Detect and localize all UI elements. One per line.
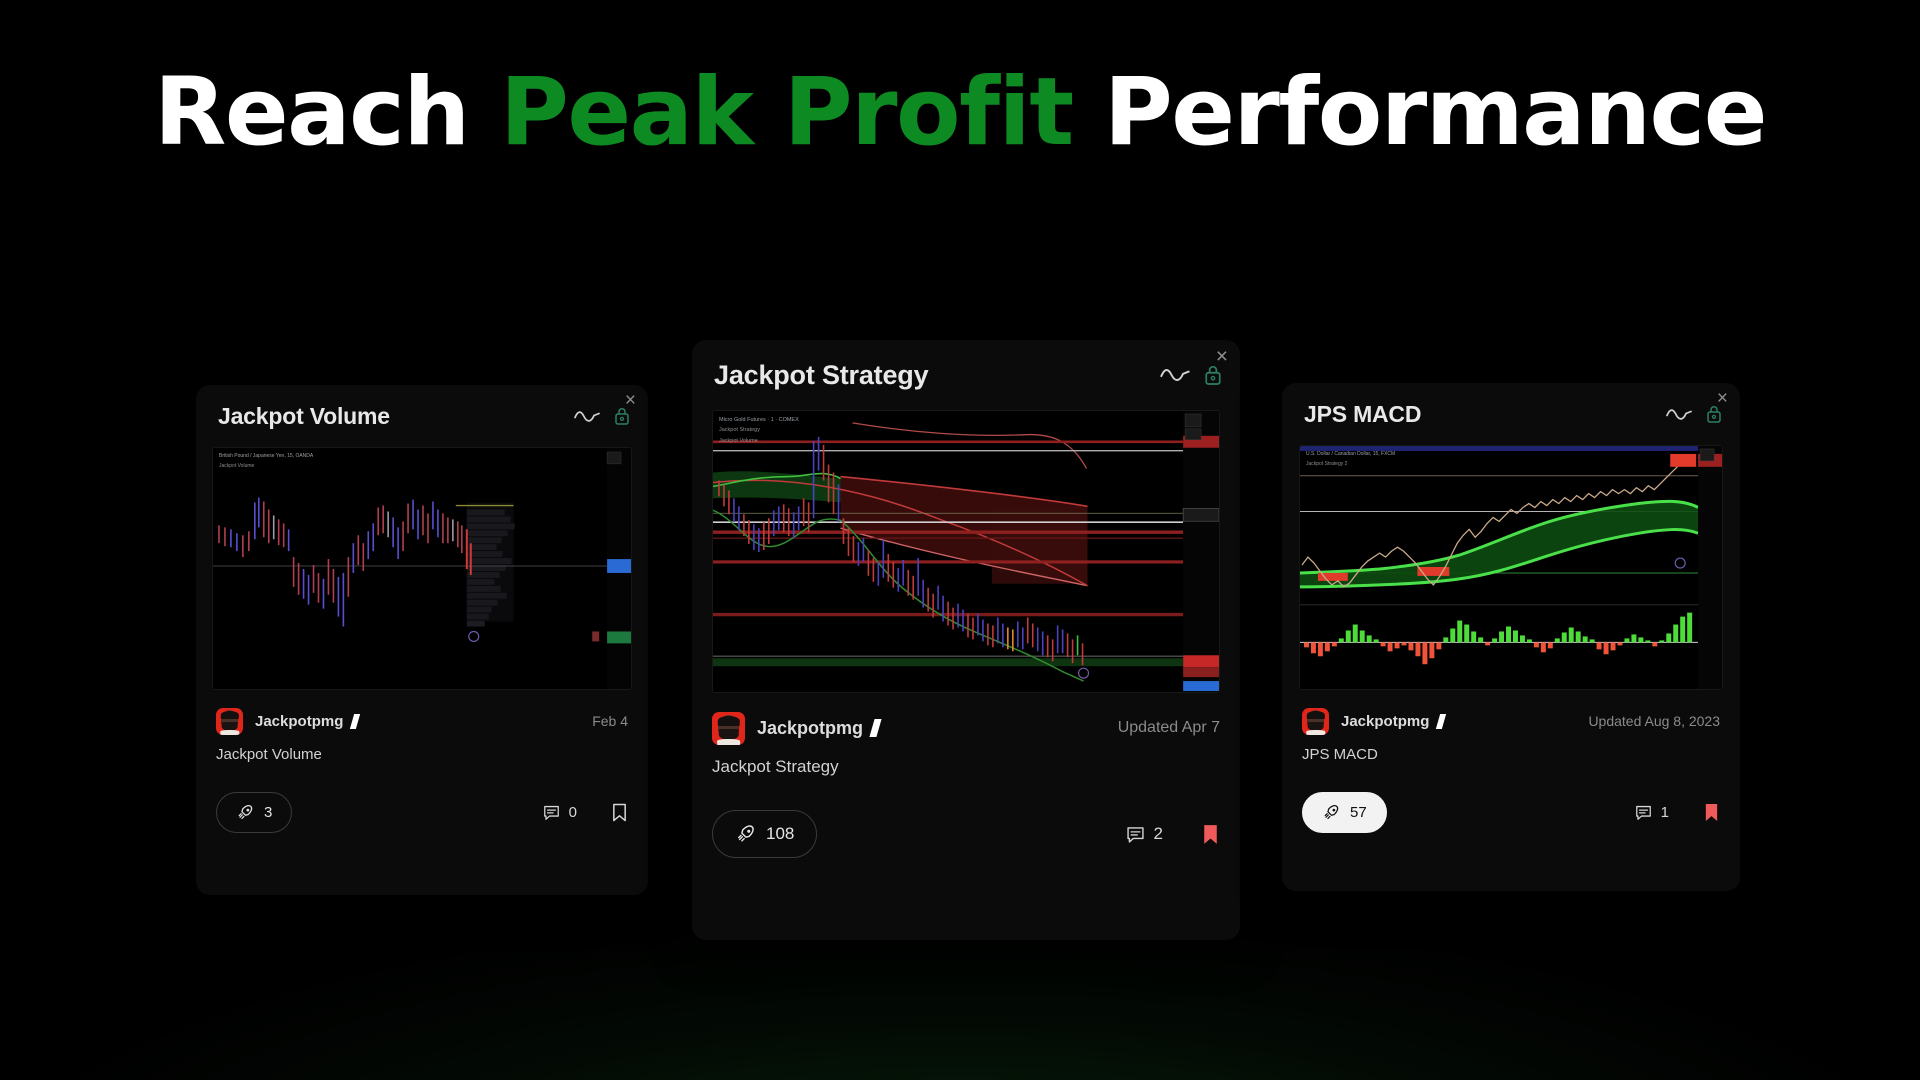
wave-icon[interactable] bbox=[1666, 407, 1692, 421]
verified-badge-icon bbox=[350, 714, 360, 729]
comment-button[interactable]: 2 bbox=[1125, 824, 1163, 845]
chart-svg bbox=[1300, 446, 1722, 689]
rocket-icon bbox=[735, 823, 757, 845]
chart-svg bbox=[213, 448, 631, 689]
card-title: Jackpot Strategy bbox=[714, 360, 928, 391]
page-title: Reach Peak Profit Performance bbox=[0, 58, 1920, 167]
boost-count: 108 bbox=[766, 824, 794, 844]
comment-icon bbox=[542, 803, 561, 822]
headline-part-1: Reach bbox=[154, 58, 500, 167]
chart-thumbnail[interactable]: British Pound / Japanese Yen, 15, OANDA … bbox=[212, 447, 632, 690]
card-meta-row: Jackpotpmg Feb 4 bbox=[196, 690, 648, 752]
comment-button[interactable]: 1 bbox=[1634, 803, 1669, 822]
idea-card-jps-macd[interactable]: JPS MACD × bbox=[1282, 383, 1740, 891]
idea-card-jackpot-strategy[interactable]: Jackpot Strategy × bbox=[692, 340, 1240, 940]
bookmark-icon bbox=[1703, 802, 1720, 823]
card-title: JPS MACD bbox=[1304, 401, 1421, 428]
card-title: Jackpot Volume bbox=[218, 403, 390, 430]
page-root: Reach Peak Profit Performance Jackpot Vo… bbox=[0, 0, 1920, 1080]
card-date: Updated Aug 8, 2023 bbox=[1588, 713, 1720, 729]
card-meta-row: Jackpotpmg Updated Aug 8, 2023 bbox=[1282, 690, 1740, 752]
close-icon[interactable]: × bbox=[625, 391, 636, 410]
author-name[interactable]: Jackpotpmg bbox=[757, 718, 863, 739]
comment-count: 0 bbox=[569, 804, 577, 821]
wave-icon[interactable] bbox=[574, 409, 600, 423]
author-name[interactable]: Jackpotpmg bbox=[1341, 713, 1429, 730]
boost-button[interactable]: 3 bbox=[216, 792, 292, 833]
card-date: Updated Apr 7 bbox=[1118, 719, 1220, 737]
verified-badge-icon bbox=[1436, 714, 1446, 729]
card-actions: 108 2 bbox=[692, 810, 1240, 858]
card-description: Jackpot Volume bbox=[196, 746, 648, 763]
card-actions: 57 1 bbox=[1282, 792, 1740, 833]
card-meta-row: Jackpotpmg Updated Apr 7 bbox=[692, 693, 1240, 763]
card-actions: 3 0 bbox=[196, 792, 648, 833]
headline-accent: Peak Profit bbox=[500, 58, 1073, 167]
comment-count: 1 bbox=[1661, 804, 1669, 821]
card-description: JPS MACD bbox=[1282, 746, 1740, 763]
comment-icon bbox=[1125, 824, 1146, 845]
boost-count: 3 bbox=[264, 804, 272, 821]
comment-button[interactable]: 0 bbox=[542, 803, 577, 822]
boost-button[interactable]: 108 bbox=[712, 810, 817, 858]
author-name[interactable]: Jackpotpmg bbox=[255, 713, 343, 730]
card-date: Feb 4 bbox=[592, 713, 628, 729]
card-header: Jackpot Volume × bbox=[196, 385, 648, 447]
card-header: Jackpot Strategy × bbox=[692, 340, 1240, 410]
wave-icon[interactable] bbox=[1160, 367, 1190, 383]
avatar[interactable] bbox=[216, 708, 243, 735]
rocket-icon bbox=[1322, 803, 1341, 822]
bookmark-button[interactable] bbox=[611, 802, 628, 823]
card-description: Jackpot Strategy bbox=[692, 757, 1240, 777]
idea-card-jackpot-volume[interactable]: Jackpot Volume × bbox=[196, 385, 648, 895]
boost-button[interactable]: 57 bbox=[1302, 792, 1387, 833]
bookmark-button[interactable] bbox=[1201, 823, 1220, 846]
avatar[interactable] bbox=[712, 712, 745, 745]
close-icon[interactable]: × bbox=[1216, 346, 1228, 367]
chart-thumbnail[interactable]: U.S. Dollar / Canadian Dollar, 15, FXCM … bbox=[1299, 445, 1723, 690]
comment-count: 2 bbox=[1154, 824, 1163, 844]
verified-badge-icon bbox=[869, 719, 881, 737]
bookmark-icon bbox=[611, 802, 628, 823]
rocket-icon bbox=[236, 803, 255, 822]
headline-part-2: Performance bbox=[1073, 58, 1766, 167]
comment-icon bbox=[1634, 803, 1653, 822]
chart-svg bbox=[713, 411, 1219, 692]
card-header: JPS MACD × bbox=[1282, 383, 1740, 445]
boost-count: 57 bbox=[1350, 804, 1367, 821]
bookmark-button[interactable] bbox=[1703, 802, 1720, 823]
chart-thumbnail[interactable]: Micro Gold Futures · 1 · COMEX Jackpot S… bbox=[712, 410, 1220, 693]
close-icon[interactable]: × bbox=[1717, 389, 1728, 408]
bookmark-icon bbox=[1201, 823, 1220, 846]
avatar[interactable] bbox=[1302, 708, 1329, 735]
